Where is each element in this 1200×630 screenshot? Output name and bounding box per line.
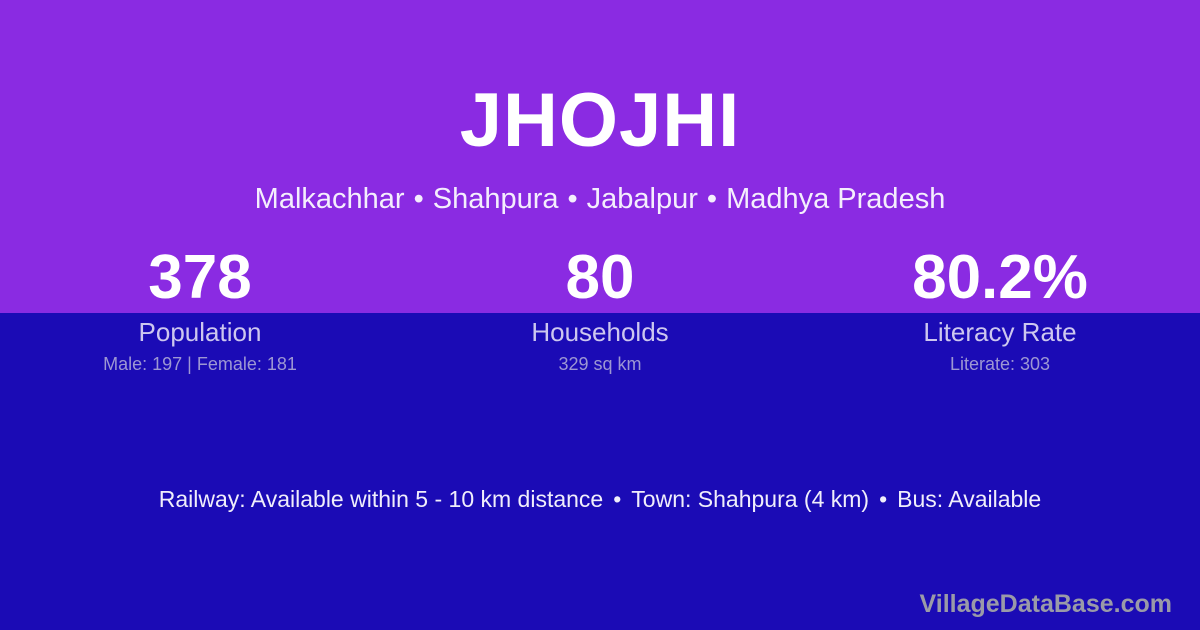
amenities-line: Railway: Available within 5 - 10 km dist… — [0, 484, 1200, 515]
amenity-railway: Railway: Available within 5 - 10 km dist… — [159, 486, 603, 512]
stat-label: Literacy Rate — [800, 316, 1200, 348]
breadcrumb-separator-1: • — [414, 181, 424, 217]
site-brand-watermark: VillageDataBase.com — [920, 588, 1172, 620]
stats-row: 378 Population Male: 197 | Female: 181 8… — [0, 243, 1200, 375]
breadcrumb-state: Madhya Pradesh — [726, 183, 945, 215]
page-title: JHOJHI — [0, 80, 1200, 162]
stat-households: 80 Households 329 sq km — [400, 243, 800, 375]
card-content: JHOJHI Malkachhar•Shahpura•Jabalpur•Madh… — [0, 0, 1200, 630]
breadcrumb: Malkachhar•Shahpura•Jabalpur•Madhya Prad… — [0, 181, 1200, 217]
stat-population: 378 Population Male: 197 | Female: 181 — [0, 243, 400, 375]
stat-label: Households — [400, 316, 800, 348]
stat-sublabel: Literate: 303 — [800, 353, 1200, 375]
amenity-town: Town: Shahpura (4 km) — [631, 486, 869, 512]
stat-value: 80.2% — [800, 243, 1200, 313]
breadcrumb-block: Shahpura — [433, 183, 559, 215]
stat-value: 378 — [0, 243, 400, 313]
stat-value: 80 — [400, 243, 800, 313]
stat-label: Population — [0, 316, 400, 348]
amenities-separator-1: • — [613, 484, 621, 515]
breadcrumb-panchayat: Malkachhar — [255, 183, 405, 215]
breadcrumb-district: Jabalpur — [587, 183, 698, 215]
amenities-separator-2: • — [879, 484, 887, 515]
amenity-bus: Bus: Available — [897, 486, 1041, 512]
breadcrumb-separator-2: • — [568, 181, 578, 217]
breadcrumb-separator-3: • — [707, 181, 717, 217]
stat-sublabel: 329 sq km — [400, 353, 800, 375]
village-info-card: JHOJHI Malkachhar•Shahpura•Jabalpur•Madh… — [0, 0, 1200, 630]
stat-literacy-rate: 80.2% Literacy Rate Literate: 303 — [800, 243, 1200, 375]
stat-sublabel: Male: 197 | Female: 181 — [0, 353, 400, 375]
